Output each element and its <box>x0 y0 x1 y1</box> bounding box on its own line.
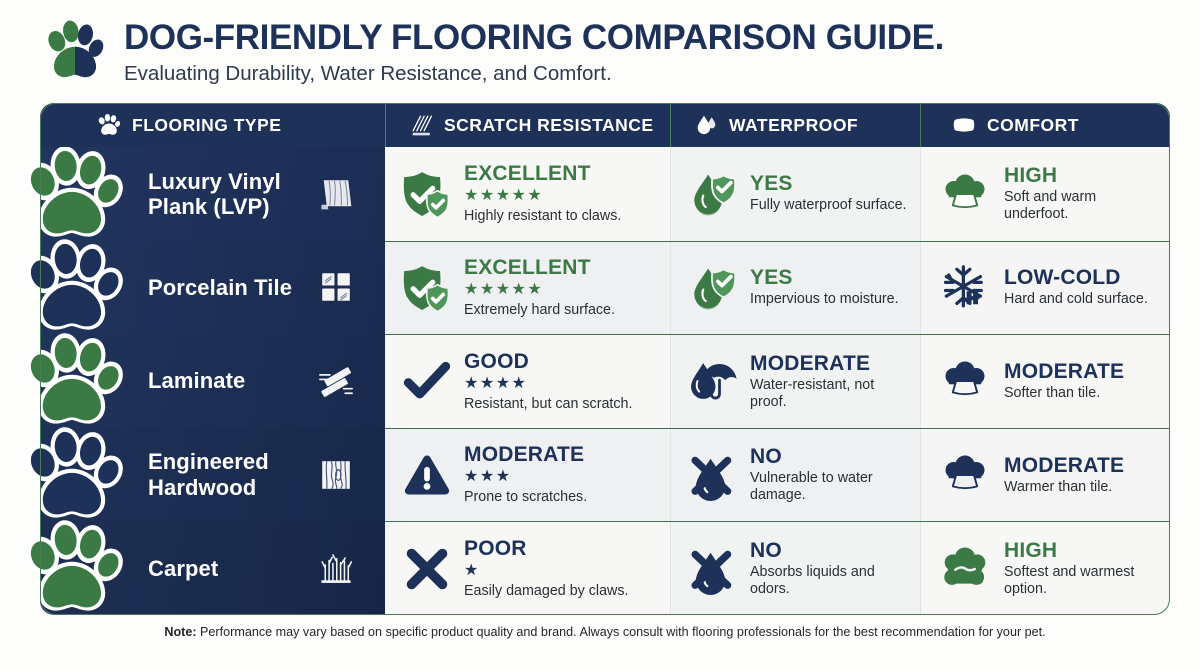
rating-label: YES <box>750 267 899 289</box>
column-header-waterproof: WATERPROOF <box>670 103 920 147</box>
row-name-cell: Porcelain Tile <box>40 241 385 335</box>
page-subtitle: Evaluating Durability, Water Resistance,… <box>124 62 944 87</box>
cloud-soft-icon <box>937 543 993 595</box>
column-header-label: FLOORING TYPE <box>132 115 281 136</box>
paw-print-icon <box>40 15 110 87</box>
droplet-shield-check-icon <box>687 168 739 220</box>
infographic-canvas: DOG-FRIENDLY FLOORING COMPARISON GUIDE. … <box>0 0 1200 669</box>
paw-print-icon <box>96 112 122 138</box>
pillow-icon <box>937 355 993 407</box>
column-header-scratch-resistance: SCRATCH RESISTANCE <box>385 103 670 147</box>
carpet-fibers-icon <box>313 545 359 591</box>
cell-waterproof: YES Impervious to moisture. <box>670 242 920 335</box>
rating-note: Vulnerable to water damage. <box>750 470 912 504</box>
rating-note: Water-resistant, not proof. <box>750 377 912 411</box>
shield-check-icon <box>401 168 453 220</box>
table-row: Engineered Hardwood <box>40 428 1170 522</box>
column-header-flooring-type: FLOORING TYPE <box>40 103 385 147</box>
rating-label: POOR <box>464 538 629 560</box>
star-rating: ★★★ <box>464 467 587 487</box>
cell-comfort: LOW-COLD Hard and cold surface. <box>920 242 1170 335</box>
pillow-icon <box>951 112 977 138</box>
droplet-umbrella-icon <box>687 355 739 407</box>
row-data-cells: MODERATE ★★★ Prone to scratches. <box>385 428 1170 522</box>
cell-waterproof: MODERATE Water-resistant, not proof. <box>670 335 920 428</box>
x-cross-icon <box>401 543 453 595</box>
rating-note: Easily damaged by claws. <box>464 583 629 600</box>
footer-note: Note: Performance may vary based on spec… <box>40 624 1170 640</box>
table-row: Carpet <box>40 521 1170 615</box>
rating-note: Prone to scratches. <box>464 489 587 506</box>
cell-scratch-resistance: MODERATE ★★★ Prone to scratches. <box>385 429 670 522</box>
rating-label: MODERATE <box>464 444 587 466</box>
checkmark-icon <box>401 355 453 407</box>
rating-label: EXCELLENT <box>464 257 615 279</box>
laminate-planks-icon <box>313 358 359 404</box>
row-data-cells: EXCELLENT ★★★★★ Highly resistant to claw… <box>385 147 1170 241</box>
row-name-label: Laminate <box>148 368 245 393</box>
rating-label: HIGH <box>1004 165 1162 187</box>
footer-note-text: Performance may vary based on specific p… <box>197 625 1046 639</box>
comparison-table: FLOORING TYPE SCRATCH RESISTANCE <box>40 103 1170 615</box>
vinyl-plank-icon <box>313 171 359 217</box>
rating-note: Resistant, but can scratch. <box>464 396 632 413</box>
rating-note: Warmer than tile. <box>1004 479 1124 496</box>
rating-note: Soft and warm underfoot. <box>1004 189 1162 223</box>
warning-triangle-icon <box>401 449 453 501</box>
cell-comfort: HIGH Softest and warmest option. <box>920 522 1170 615</box>
droplet-crossed-icon <box>687 543 739 595</box>
cell-scratch-resistance: POOR ★ Easily damaged by claws. <box>385 522 670 615</box>
row-name-cell: Carpet <box>40 521 385 615</box>
cell-scratch-resistance: EXCELLENT ★★★★★ Highly resistant to claw… <box>385 147 670 241</box>
cell-scratch-resistance: GOOD ★★★★ Resistant, but can scratch. <box>385 335 670 428</box>
star-rating: ★★★★★ <box>464 186 621 206</box>
row-name-label: Engineered Hardwood <box>148 449 308 500</box>
droplet-shield-check-icon <box>687 262 739 314</box>
table-row: Luxury Vinyl Plank (LVP) <box>40 147 1170 241</box>
wood-grain-icon <box>313 452 359 498</box>
cell-waterproof: NO Vulnerable to water damage. <box>670 429 920 522</box>
row-name-cell: Engineered Hardwood <box>40 428 385 522</box>
cell-comfort: MODERATE Softer than tile. <box>920 335 1170 428</box>
rating-label: HIGH <box>1004 540 1162 562</box>
cell-waterproof: NO Absorbs liquids and odors. <box>670 522 920 615</box>
star-rating: ★★★★ <box>464 374 632 394</box>
paw-print-icon <box>22 423 126 527</box>
row-name-label: Carpet <box>148 556 218 581</box>
rating-note: Softest and warmest option. <box>1004 564 1162 598</box>
rating-note: Fully waterproof surface. <box>750 197 907 214</box>
column-header-label: COMFORT <box>987 115 1079 136</box>
star-rating: ★ <box>464 561 629 581</box>
cell-comfort: MODERATE Warmer than tile. <box>920 429 1170 522</box>
row-data-cells: EXCELLENT ★★★★★ Extremely hard surface. <box>385 241 1170 335</box>
rating-note: Extremely hard surface. <box>464 302 615 319</box>
column-header-label: SCRATCH RESISTANCE <box>444 115 654 136</box>
rating-label: MODERATE <box>1004 455 1124 477</box>
footer-note-label: Note: <box>164 625 196 639</box>
paw-print-icon <box>22 516 126 620</box>
rating-note: Softer than tile. <box>1004 385 1124 402</box>
cell-scratch-resistance: EXCELLENT ★★★★★ Extremely hard surface. <box>385 242 670 335</box>
paw-print-icon <box>22 142 126 246</box>
table-body: Luxury Vinyl Plank (LVP) <box>40 147 1170 615</box>
shield-check-icon <box>401 262 453 314</box>
cell-waterproof: YES Fully waterproof surface. <box>670 147 920 241</box>
column-header-label: WATERPROOF <box>729 115 858 136</box>
pillow-icon <box>937 168 993 220</box>
rating-label: YES <box>750 173 907 195</box>
snowflake-icon <box>937 262 993 314</box>
row-name-label: Luxury Vinyl Plank (LVP) <box>148 169 308 220</box>
row-name-label: Porcelain Tile <box>148 275 292 300</box>
rating-note: Hard and cold surface. <box>1004 291 1148 308</box>
table-header-row: FLOORING TYPE SCRATCH RESISTANCE <box>40 103 1170 147</box>
row-name-cell: Luxury Vinyl Plank (LVP) <box>40 147 385 241</box>
rating-note: Absorbs liquids and odors. <box>750 564 912 598</box>
rating-note: Impervious to moisture. <box>750 291 899 308</box>
cell-comfort: HIGH Soft and warm underfoot. <box>920 147 1170 241</box>
water-droplet-icon <box>693 112 719 138</box>
row-name-cell: Laminate <box>40 334 385 428</box>
star-rating: ★★★★★ <box>464 280 615 300</box>
rating-label: EXCELLENT <box>464 163 621 185</box>
paw-print-icon <box>22 235 126 339</box>
rating-label: NO <box>750 446 912 468</box>
rating-label: MODERATE <box>1004 361 1124 383</box>
rating-label: MODERATE <box>750 353 912 375</box>
paw-print-icon <box>22 329 126 433</box>
rating-note: Highly resistant to claws. <box>464 208 621 225</box>
column-header-comfort: COMFORT <box>920 103 1170 147</box>
pillow-icon <box>937 449 993 501</box>
header: DOG-FRIENDLY FLOORING COMPARISON GUIDE. … <box>40 8 1170 98</box>
tile-grid-icon <box>313 264 359 310</box>
rating-label: GOOD <box>464 351 632 373</box>
table-row: Porcelain Tile <box>40 241 1170 335</box>
row-data-cells: GOOD ★★★★ Resistant, but can scratch. <box>385 334 1170 428</box>
droplet-crossed-icon <box>687 449 739 501</box>
scratch-lines-icon <box>408 112 434 138</box>
row-data-cells: POOR ★ Easily damaged by claws. <box>385 521 1170 615</box>
table-row: Laminate <box>40 334 1170 428</box>
page-title: DOG-FRIENDLY FLOORING COMPARISON GUIDE. <box>124 20 944 57</box>
rating-label: LOW-COLD <box>1004 267 1148 289</box>
rating-label: NO <box>750 540 912 562</box>
